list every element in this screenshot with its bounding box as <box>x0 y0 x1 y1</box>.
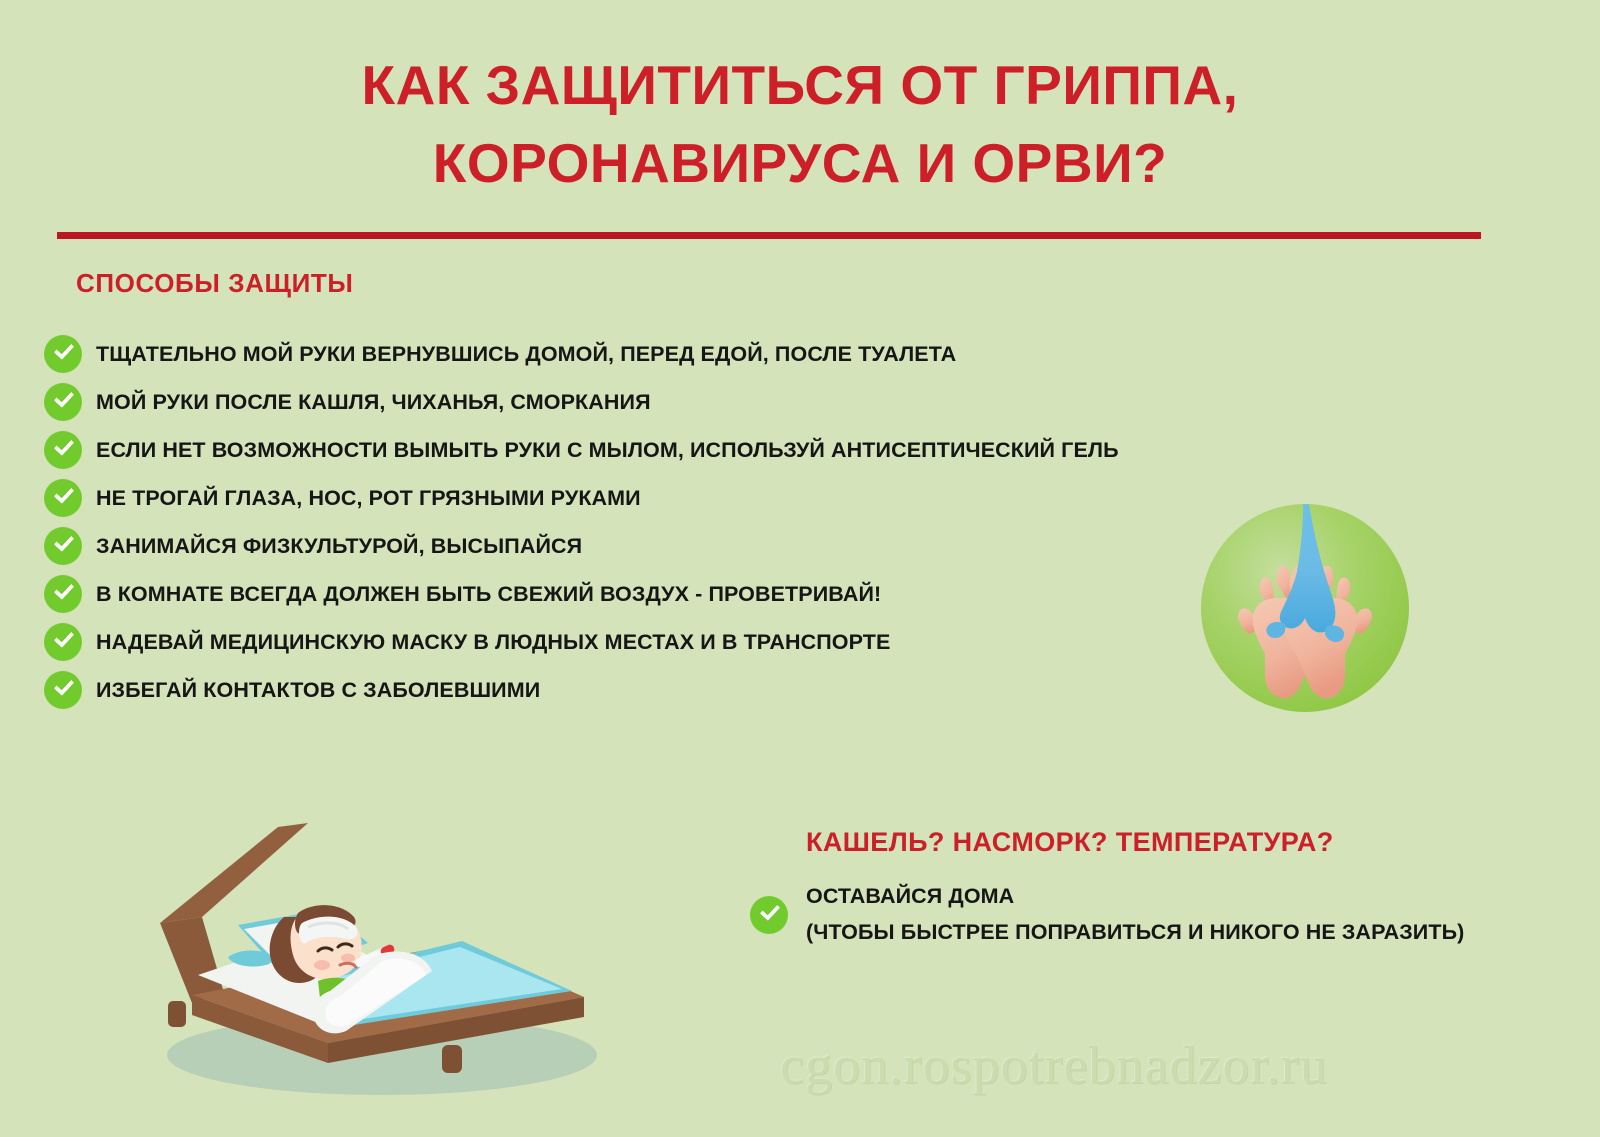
poster-canvas: КАК ЗАЩИТИТЬСЯ ОТ ГРИППА, КОРОНАВИРУСА И… <box>0 0 1600 1137</box>
check-circle-icon <box>44 335 82 373</box>
check-circle-icon <box>44 431 82 469</box>
list-item-label: НЕ ТРОГАЙ ГЛАЗА, НОС, РОТ ГРЯЗНЫМИ РУКАМ… <box>96 486 641 511</box>
list-item: ТЩАТЕЛЬНО МОЙ РУКИ ВЕРНУВШИСЬ ДОМОЙ, ПЕР… <box>44 330 1224 378</box>
list-item: ИЗБЕГАЙ КОНТАКТОВ С ЗАБОЛЕВШИМИ <box>44 666 1224 714</box>
list-item-label: ИЗБЕГАЙ КОНТАКТОВ С ЗАБОЛЕВШИМИ <box>96 678 540 703</box>
check-circle-icon <box>44 575 82 613</box>
list-item: МОЙ РУКИ ПОСЛЕ КАШЛЯ, ЧИХАНЬЯ, СМОРКАНИЯ <box>44 378 1224 426</box>
list-item: В КОМНАТЕ ВСЕГДА ДОЛЖЕН БЫТЬ СВЕЖИЙ ВОЗД… <box>44 570 1224 618</box>
list-item-label: НАДЕВАЙ МЕДИЦИНСКУЮ МАСКУ В ЛЮДНЫХ МЕСТА… <box>96 630 890 655</box>
list-item-label: ЗАНИМАЙСЯ ФИЗКУЛЬТУРОЙ, ВЫСЫПАЙСЯ <box>96 534 582 559</box>
check-circle-icon <box>44 383 82 421</box>
list-item: НАДЕВАЙ МЕДИЦИНСКУЮ МАСКУ В ЛЮДНЫХ МЕСТА… <box>44 618 1224 666</box>
list-item: ЗАНИМАЙСЯ ФИЗКУЛЬТУРОЙ, ВЫСЫПАЙСЯ <box>44 522 1224 570</box>
stay-home-primary-label: ОСТАВАЙСЯ ДОМА <box>806 884 1464 909</box>
list-item-label: ЕСЛИ НЕТ ВОЗМОЖНОСТИ ВЫМЫТЬ РУКИ С МЫЛОМ… <box>96 438 1119 463</box>
title-line-1: КАК ЗАЩИТИТЬСЯ ОТ ГРИППА, <box>0 46 1600 124</box>
sick-person-in-bed-illustration <box>132 805 614 1095</box>
list-item-label: В КОМНАТЕ ВСЕГДА ДОЛЖЕН БЫТЬ СВЕЖИЙ ВОЗД… <box>96 582 881 607</box>
check-circle-icon <box>44 527 82 565</box>
protection-section-heading: СПОСОБЫ ЗАЩИТЫ <box>76 268 353 299</box>
protection-list: ТЩАТЕЛЬНО МОЙ РУКИ ВЕРНУВШИСЬ ДОМОЙ, ПЕР… <box>44 330 1224 714</box>
handwashing-illustration <box>1185 488 1425 728</box>
list-item: ЕСЛИ НЕТ ВОЗМОЖНОСТИ ВЫМЫТЬ РУКИ С МЫЛОМ… <box>44 426 1224 474</box>
title-line-2: КОРОНАВИРУСА И ОРВИ? <box>0 124 1600 202</box>
check-circle-icon <box>44 623 82 661</box>
site-watermark: cgon.rospotrebnadzor.ru <box>780 1034 1328 1096</box>
title-divider-rule <box>57 232 1481 239</box>
poster-title: КАК ЗАЩИТИТЬСЯ ОТ ГРИППА, КОРОНАВИРУСА И… <box>0 46 1600 202</box>
stay-home-text-group: ОСТАВАЙСЯ ДОМА (ЧТОБЫ БЫСТРЕЕ ПОПРАВИТЬС… <box>806 884 1464 945</box>
list-item: НЕ ТРОГАЙ ГЛАЗА, НОС, РОТ ГРЯЗНЫМИ РУКАМ… <box>44 474 1224 522</box>
check-circle-icon <box>44 479 82 517</box>
stay-home-advice: ОСТАВАЙСЯ ДОМА (ЧТОБЫ БЫСТРЕЕ ПОПРАВИТЬС… <box>750 884 1510 945</box>
stay-home-secondary-label: (ЧТОБЫ БЫСТРЕЕ ПОПРАВИТЬСЯ И НИКОГО НЕ З… <box>806 920 1464 945</box>
symptoms-heading: КАШЕЛЬ? НАСМОРК? ТЕМПЕРАТУРА? <box>806 827 1334 858</box>
check-circle-icon <box>44 671 82 709</box>
check-circle-icon <box>750 896 788 934</box>
list-item-label: МОЙ РУКИ ПОСЛЕ КАШЛЯ, ЧИХАНЬЯ, СМОРКАНИЯ <box>96 390 651 415</box>
list-item-label: ТЩАТЕЛЬНО МОЙ РУКИ ВЕРНУВШИСЬ ДОМОЙ, ПЕР… <box>96 342 956 367</box>
